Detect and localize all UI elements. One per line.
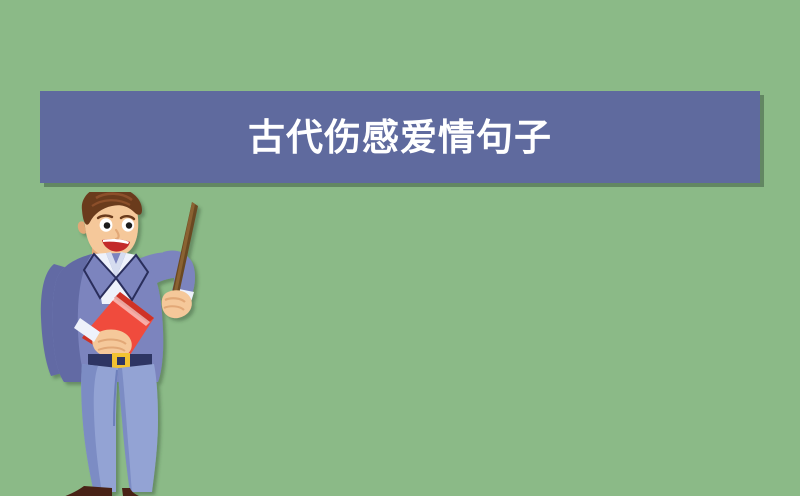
teacher-illustration <box>24 192 224 496</box>
belt-buckle-inner <box>117 357 125 365</box>
eye-left-pupil <box>104 222 111 229</box>
slide-canvas: 古代伤感爱情句子 <box>0 0 800 496</box>
title-banner: 古代伤感爱情句子 <box>40 91 760 183</box>
right-hand <box>162 290 192 318</box>
shoe-left <box>60 486 112 496</box>
page-title: 古代伤感爱情句子 <box>248 119 552 156</box>
eye-right-pupil <box>126 222 132 228</box>
